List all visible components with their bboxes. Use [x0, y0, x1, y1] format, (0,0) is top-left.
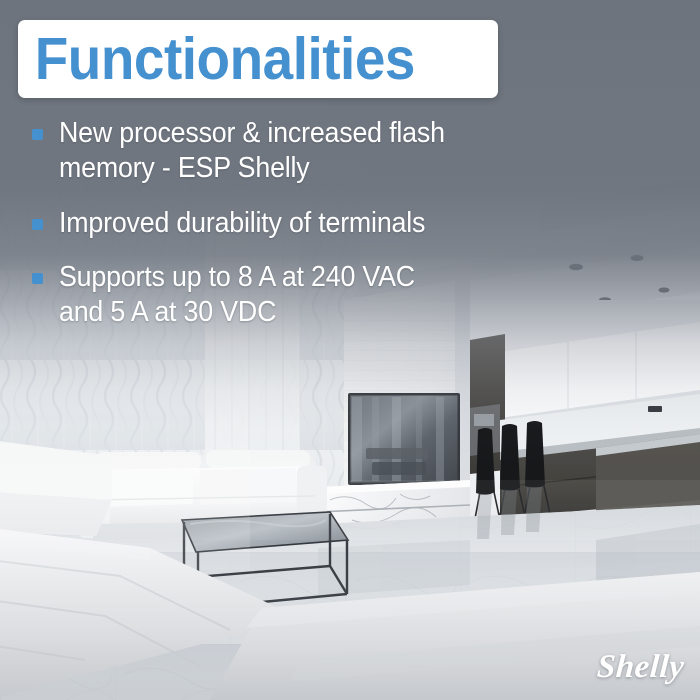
list-item: Supports up to 8 A at 240 VAC and 5 A at…	[32, 260, 592, 330]
bullet-text: Supports up to 8 A at 240 VAC and 5 A at…	[59, 260, 415, 330]
feature-bullet-list: New processor & increased flash memory -…	[32, 116, 592, 350]
bullet-text: Improved durability of terminals	[59, 206, 425, 241]
shelly-logo: Shelly	[595, 649, 685, 686]
content-layer: Functionalities New processor & increase…	[0, 0, 700, 700]
page-title: Functionalities	[18, 30, 415, 89]
bullet-square-icon	[32, 129, 43, 140]
bullet-text: New processor & increased flash memory -…	[59, 116, 445, 186]
bullet-square-icon	[32, 273, 43, 284]
list-item: New processor & increased flash memory -…	[32, 116, 592, 186]
title-box: Functionalities	[18, 20, 498, 98]
list-item: Improved durability of terminals	[32, 206, 592, 241]
bullet-square-icon	[32, 219, 43, 230]
poster-canvas: Functionalities New processor & increase…	[0, 0, 700, 700]
